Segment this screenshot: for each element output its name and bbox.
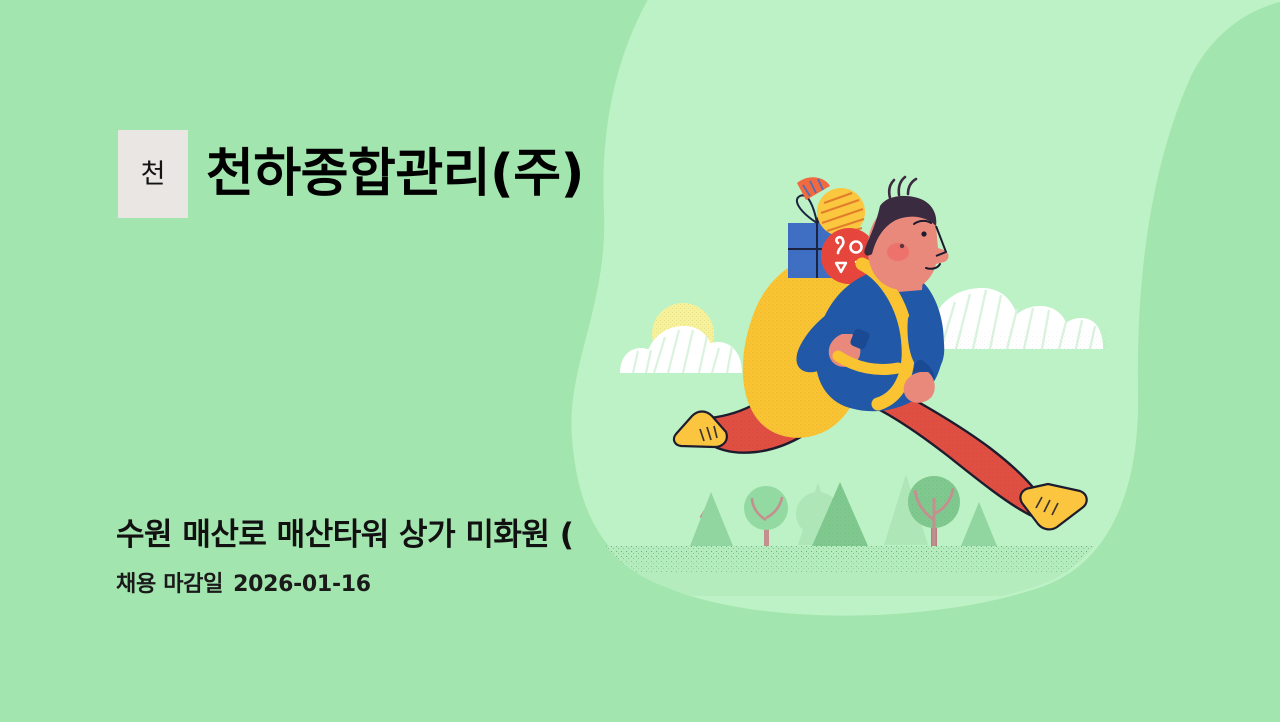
sack-strap: [838, 264, 908, 404]
runner-figure: [674, 177, 1087, 529]
runner-front-arm: [904, 300, 945, 403]
job-summary: 수원 매산로 매산타워 상가 미화원 ( 채용 마감일2026-01-16: [116, 516, 1116, 598]
runner-back-shoe: [674, 412, 727, 448]
gift-box: [788, 195, 846, 278]
patterned-ball: [821, 228, 877, 284]
card-background: [0, 0, 1280, 722]
deadline-date: 2026-01-16: [233, 572, 371, 597]
runner-front-leg: [858, 372, 1044, 516]
job-title: 수원 매산로 매산타워 상가 미화원 (: [116, 516, 1116, 555]
application-deadline: 채용 마감일2026-01-16: [116, 572, 1116, 598]
job-posting-card: 천 천하종합관리(주) 수원 매산로 매산타워 상가 미화원 ( 채용 마감일2…: [0, 0, 1280, 722]
background-illustration: [0, 0, 1280, 722]
gift-sack: [743, 255, 868, 438]
company-header: 천 천하종합관리(주): [118, 130, 584, 218]
runner-back-leg: [698, 372, 846, 453]
logo-badge-glyph: 천: [141, 161, 166, 188]
sun: [652, 303, 714, 365]
runner-torso: [816, 269, 944, 411]
runner-back-arm: [796, 296, 870, 372]
company-logo-badge: 천: [118, 130, 188, 218]
orange-wedge: [797, 177, 830, 200]
striped-ball: [817, 188, 865, 236]
white-bushes-left: [620, 326, 742, 373]
runner-head: [864, 177, 948, 292]
company-name: 천하종합관리(주): [206, 148, 584, 200]
white-bushes-right: [928, 288, 1108, 350]
deadline-label: 채용 마감일: [116, 572, 223, 597]
